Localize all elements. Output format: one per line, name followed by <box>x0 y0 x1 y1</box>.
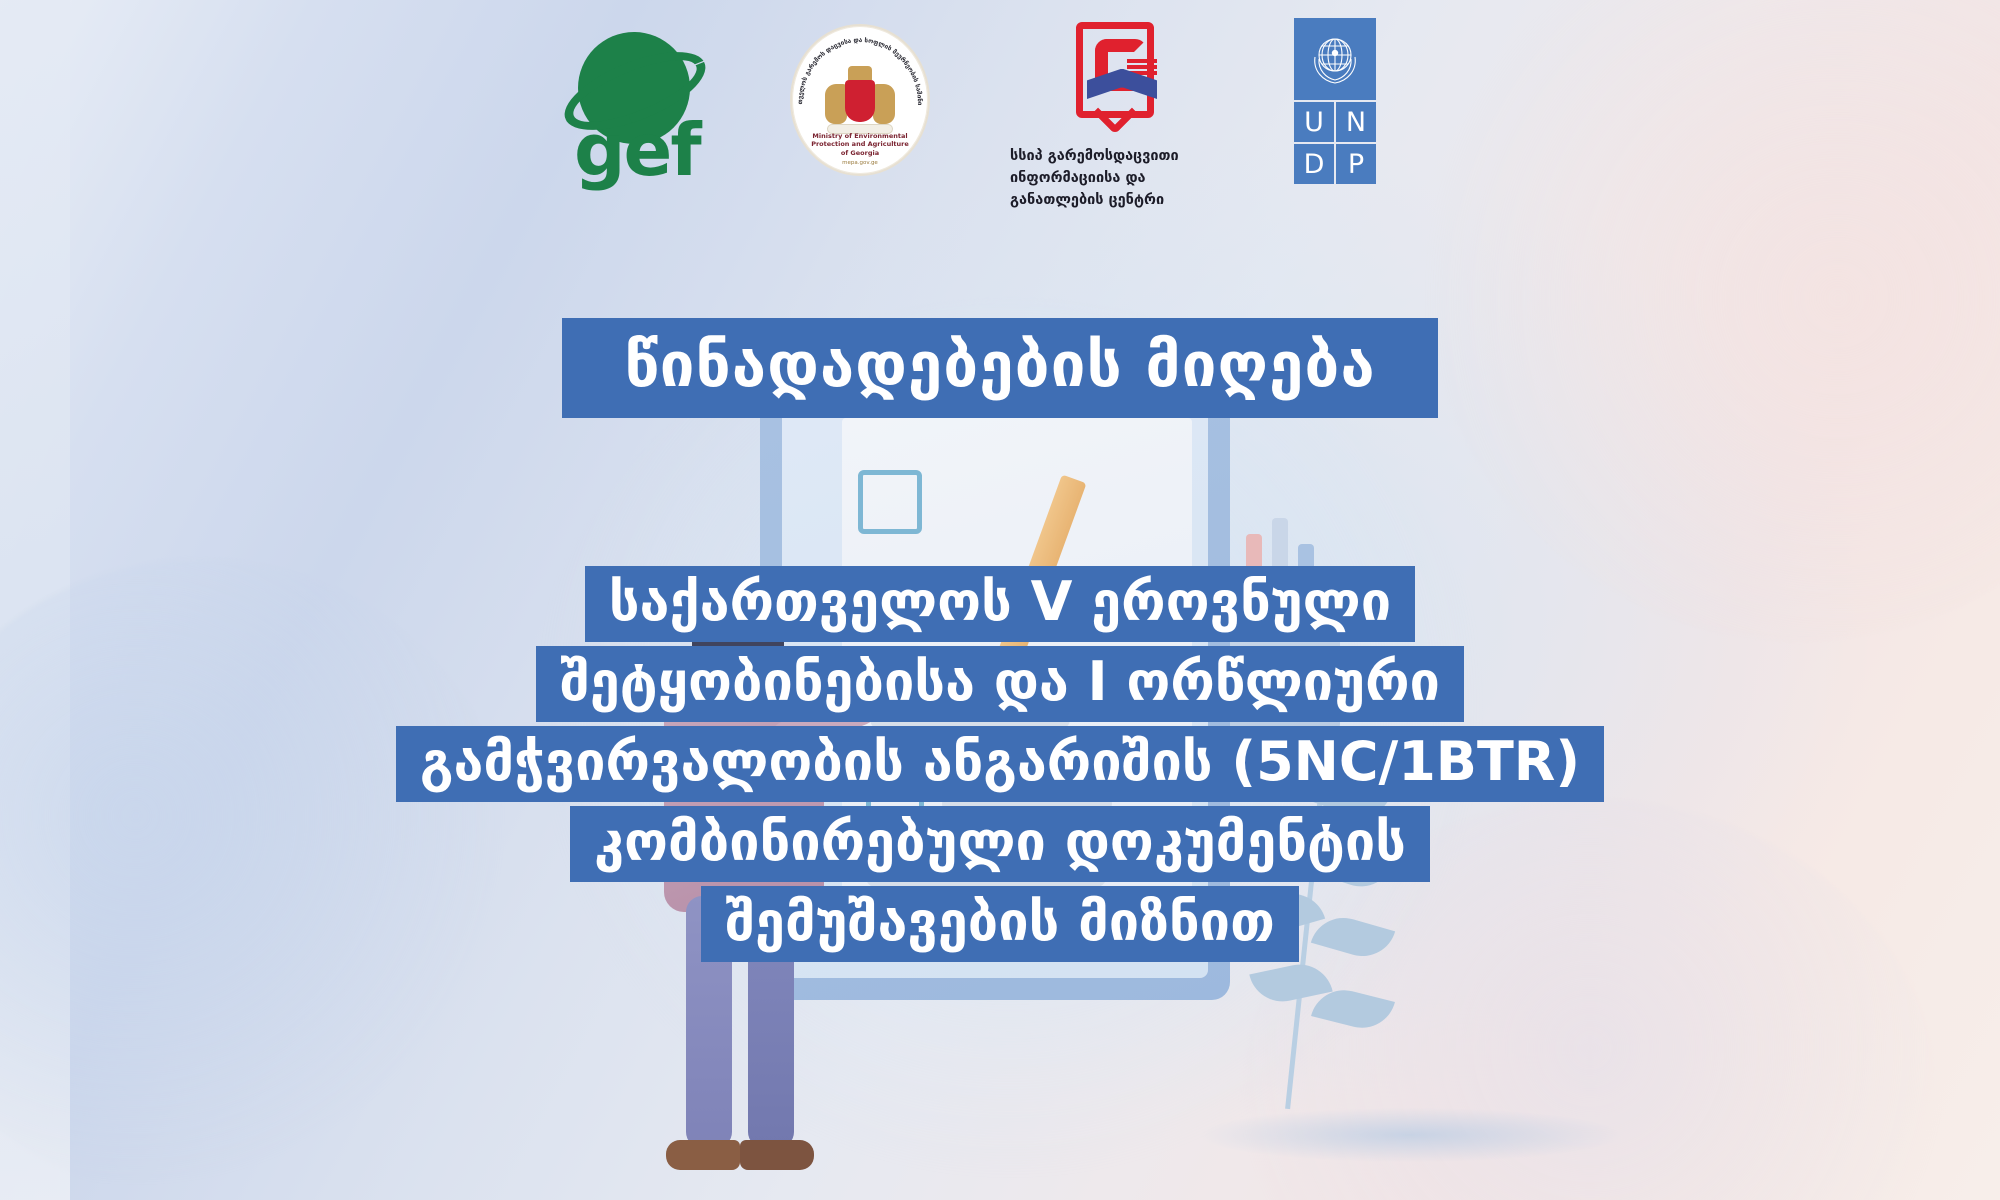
subtitle-line-1: საქართველოს V ეროვნული <box>585 566 1415 642</box>
subtitle-line-4: კომბინირებული დოკუმენტის <box>570 806 1430 882</box>
seal-caption: Ministry of Environmental Protection and… <box>784 132 936 158</box>
coat-of-arms <box>823 66 897 136</box>
environmental-info-centre-logo: სსიპ გარემოსდაცვითი ინფორმაციისა და განა… <box>1010 18 1220 211</box>
gef-logo: gef <box>560 18 710 178</box>
undp-letter-p: P <box>1336 144 1376 184</box>
info-centre-label-line2: ინფორმაციისა და <box>1010 168 1220 190</box>
undp-logo: U N D P <box>1294 18 1404 184</box>
subtitle-line-3: გამჭვირვალობის ანგარიშის (5NC/1BTR) <box>396 726 1604 802</box>
undp-letters-grid: U N D P <box>1294 102 1376 184</box>
page-title: წინადადებების მიღება <box>562 318 1437 418</box>
poster-canvas: gef საქართველოს გარემოს დაცვისა და სოფლი… <box>0 0 2000 1200</box>
shield-icon <box>845 80 875 122</box>
info-centre-label: სსიპ გარემოსდაცვითი ინფორმაციისა და განა… <box>1010 146 1220 211</box>
subtitle-banner: საქართველოს V ეროვნული შეტყობინებისა და … <box>0 566 2000 966</box>
seal-caption-line3: of Georgia <box>784 149 936 158</box>
un-emblem-icon <box>1294 18 1376 100</box>
seal-caption-line1: Ministry of Environmental <box>784 132 936 141</box>
undp-letter-d: D <box>1294 144 1334 184</box>
info-centre-label-line3: განათლების ცენტრი <box>1010 190 1220 212</box>
ministry-seal-logo: საქართველოს გარემოს დაცვისა და სოფლის მე… <box>784 18 936 178</box>
seal-caption-line2: Protection and Agriculture <box>784 140 936 149</box>
un-globe-laurel-icon <box>1303 27 1367 91</box>
crown-icon <box>848 66 872 80</box>
undp-letter-n: N <box>1336 102 1376 142</box>
lion-left-icon <box>825 84 847 124</box>
info-centre-shield-icon <box>1076 22 1154 118</box>
gef-wordmark: gef <box>574 114 700 186</box>
seal-url: mepa.gov.ge <box>784 160 936 166</box>
checkbox-checked <box>858 470 922 534</box>
partner-logos-row: gef საქართველოს გარემოს დაცვისა და სოფლი… <box>560 18 1440 198</box>
info-centre-label-line1: სსიპ გარემოსდაცვითი <box>1010 146 1220 168</box>
lion-right-icon <box>873 84 895 124</box>
subtitle-line-5: შემუშავების მიზნით <box>701 886 1299 962</box>
undp-letter-u: U <box>1294 102 1334 142</box>
headline-banner: წინადადებების მიღება <box>0 318 2000 418</box>
subtitle-line-2: შეტყობინებისა და I ორწლიური <box>536 646 1464 722</box>
person-shoe-left <box>666 1140 740 1170</box>
person-shoe-right <box>740 1140 814 1170</box>
